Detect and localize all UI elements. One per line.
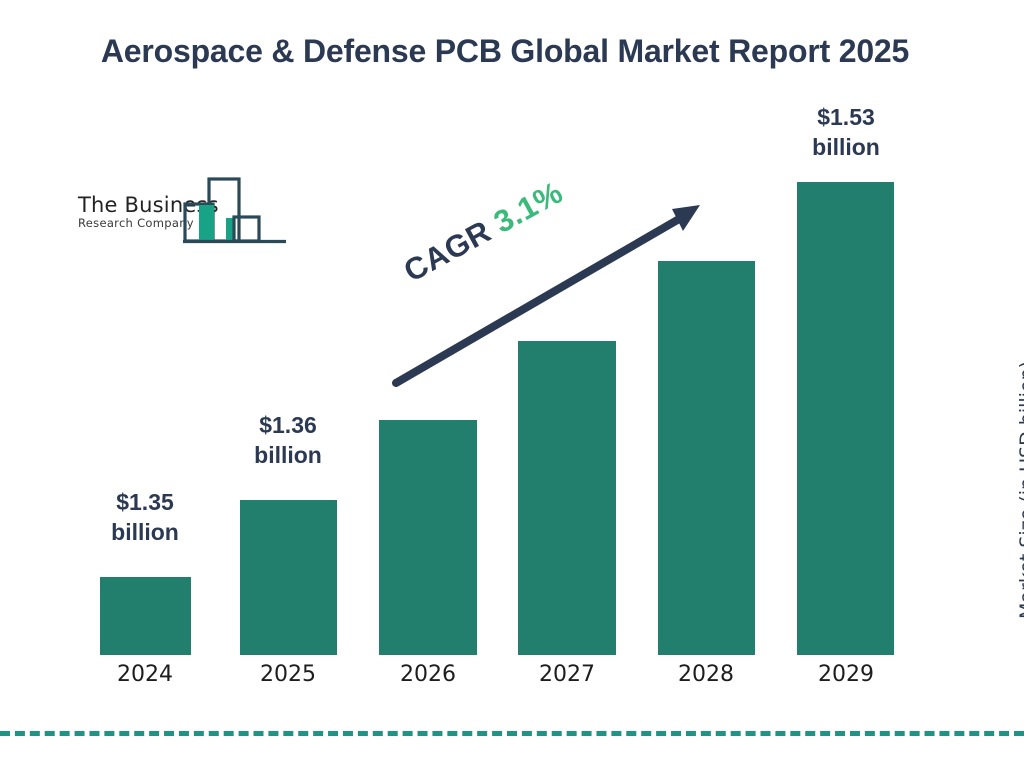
bar-2024 (100, 577, 191, 655)
bar-2028 (658, 261, 755, 655)
x-tick-2025: 2025 (218, 662, 358, 687)
x-tick-2028: 2028 (636, 662, 776, 687)
y-axis-title: Market Size (in USD billion) (1016, 300, 1024, 680)
bar-value-2024: $1.35 billion (75, 487, 215, 548)
company-logo: The Business Research Company (78, 176, 288, 248)
bar-value-2029-unit: billion (776, 132, 916, 162)
bar-2027 (518, 341, 616, 655)
bar-value-2024-unit: billion (75, 517, 215, 547)
cagr-value: 3.1% (488, 174, 569, 239)
cagr-annotation: CAGR 3.1% (398, 174, 569, 289)
chart-root: Aerospace & Defense PCB Global Market Re… (0, 0, 1024, 768)
page-title: Aerospace & Defense PCB Global Market Re… (90, 30, 920, 74)
x-tick-2026: 2026 (358, 662, 498, 687)
x-tick-2029: 2029 (776, 662, 916, 687)
x-tick-2024: 2024 (75, 662, 215, 687)
bar-value-2024-amount: $1.35 (75, 487, 215, 517)
bar-2026 (379, 420, 477, 655)
bar-2025 (240, 500, 337, 655)
bar-value-2029-amount: $1.53 (776, 102, 916, 132)
bar-value-2025-amount: $1.36 (218, 410, 358, 440)
x-tick-2027: 2027 (497, 662, 637, 687)
bar-value-2025: $1.36 billion (218, 410, 358, 471)
bar-chart-logo-icon (183, 176, 288, 248)
bar-value-2025-unit: billion (218, 440, 358, 470)
cagr-word: CAGR (398, 213, 497, 288)
bar-value-2029: $1.53 billion (776, 102, 916, 163)
footer-divider (0, 731, 1024, 736)
bar-2029 (797, 182, 894, 655)
